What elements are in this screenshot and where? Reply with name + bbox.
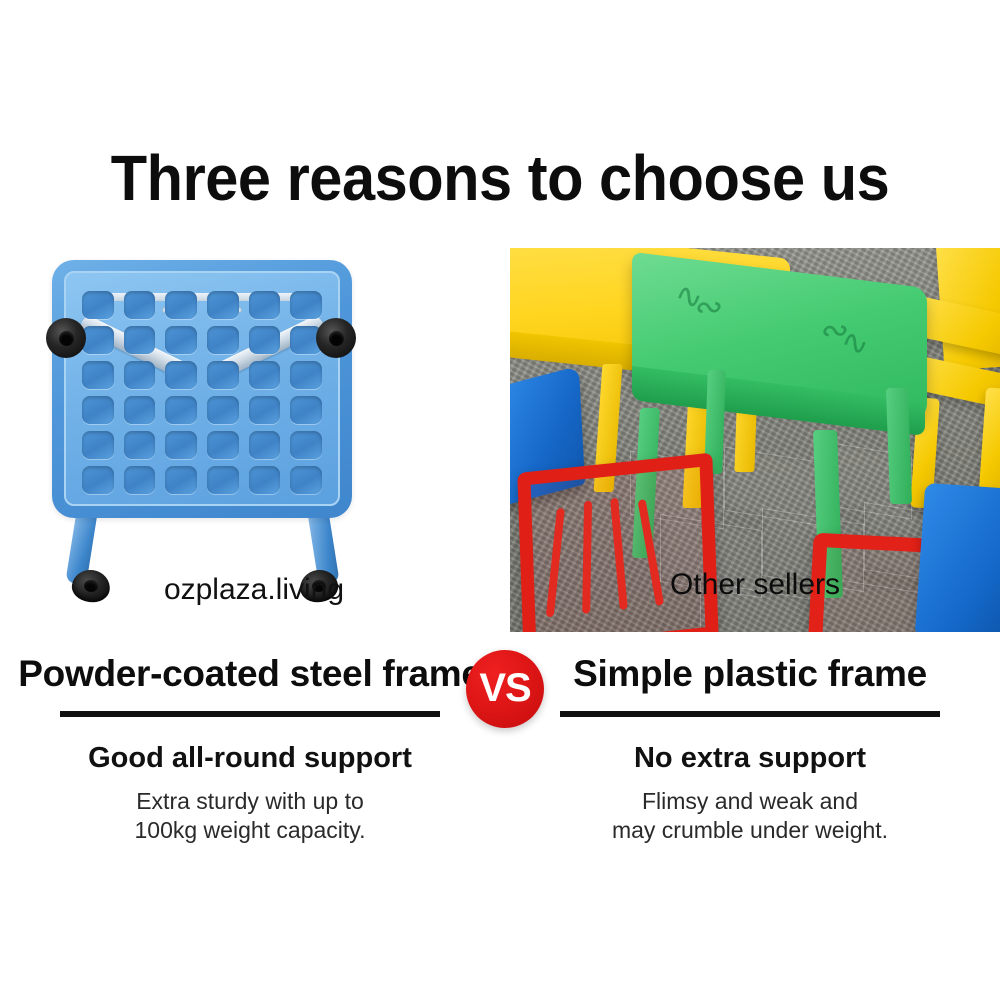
brand-watermark: ozplaza.living [0, 573, 508, 607]
table-top-underside [52, 260, 352, 518]
left-product-photo: ozplaza.living [0, 248, 508, 632]
feature-column-theirs: Simple plastic frame No extra support Fl… [500, 652, 1000, 882]
feature-column-ours: Powder-coated steel frame Good all-round… [0, 652, 500, 882]
blue-table-illustration [28, 250, 428, 580]
page-title: Three reasons to choose us [35, 143, 965, 213]
table-foot-top-left [46, 318, 86, 358]
feature-heading: Powder-coated steel frame [0, 652, 500, 696]
feature-divider [60, 711, 440, 717]
table-underside-panel [64, 271, 340, 506]
underside-dimple-texture [82, 291, 322, 488]
feature-subheading: Good all-round support [0, 741, 500, 775]
vs-label: VS [479, 668, 530, 708]
red-chair-left [517, 453, 718, 632]
feature-body-line-1: Flimsy and weak and [500, 787, 1000, 816]
feature-body-line-1: Extra sturdy with up to [0, 787, 500, 816]
blue-chair-right [915, 483, 1000, 632]
right-competitor-photo: ∿ ∾ ∾ ∿ Other sellers [510, 248, 1000, 632]
green-table-leg [886, 388, 912, 504]
feature-body-line-2: 100kg weight capacity. [0, 816, 500, 845]
feature-heading: Simple plastic frame [500, 652, 1000, 696]
vs-badge: VS [466, 650, 544, 728]
table-foot-top-right [316, 318, 356, 358]
feature-body: Flimsy and weak and may crumble under we… [500, 787, 1000, 845]
feature-body-line-2: may crumble under weight. [500, 816, 1000, 845]
feature-subheading: No extra support [500, 741, 1000, 775]
competitor-watermark: Other sellers [510, 568, 1000, 602]
feature-body: Extra sturdy with up to 100kg weight cap… [0, 787, 500, 845]
comparison-strip: ozplaza.living [0, 248, 1000, 632]
feature-divider [560, 711, 940, 717]
promo-banner: Three reasons to choose us [0, 0, 1000, 1000]
